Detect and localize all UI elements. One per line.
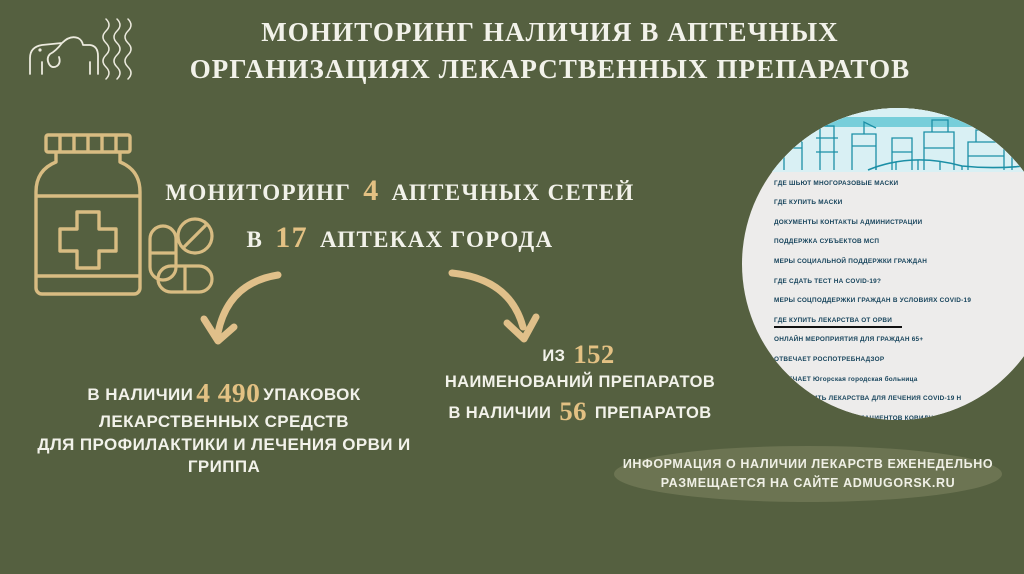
wavy-lines-icon — [100, 17, 134, 83]
menu-item-9[interactable]: ОТВЕЧАЕТ РОСПОТРЕБНАДЗОР — [774, 350, 1024, 370]
city-emblem — [16, 14, 136, 86]
menu-item-5[interactable]: ГДЕ СДАТЬ ТЕСТ НА COVID-19? — [774, 272, 1024, 292]
stat-packages: В НАЛИЧИИ4 490УПАКОВОК ЛЕКАРСТВЕННЫХ СРЕ… — [14, 375, 434, 479]
stat-packages-post: УПАКОВОК — [263, 385, 360, 404]
poster-title: МОНИТОРИНГ НАЛИЧИЯ В АПТЕЧНЫХ ОРГАНИЗАЦИ… — [150, 14, 950, 89]
stat-packages-pre: В НАЛИЧИИ — [87, 385, 193, 404]
footer-line-2: РАЗМЕЩАЕТСЯ НА САЙТЕ ADMUGORSK.RU — [614, 474, 1002, 493]
menu-item-7[interactable]: ГДЕ КУПИТЬ ЛЕКАРСТВА ОТ ОРВИ — [774, 311, 1024, 331]
infographic-poster: МОНИТОРИНГ НАЛИЧИЯ В АПТЕЧНЫХ ОРГАНИЗАЦИ… — [0, 0, 1024, 574]
menu-item-12[interactable]: ПРАВИЛА ПЕРЕДАЧ ДЛЯ ПАЦИЕНТОВ КОВИДНОГ — [774, 409, 1024, 420]
stat-packages-value: 4 490 — [193, 377, 263, 408]
stat-total-names-value: 152 — [570, 339, 617, 369]
curved-arrow-down-left-icon — [204, 275, 278, 341]
headline-l2-pre: В — [247, 227, 264, 252]
title-line-1: МОНИТОРИНГ НАЛИЧИЯ В АПТЕЧНЫХ — [150, 14, 950, 51]
headline-pharmacies-count: 17 — [270, 221, 313, 254]
title-line-2: ОРГАНИЗАЦИЯХ ЛЕКАРСТВЕННЫХ ПРЕПАРАТОВ — [150, 51, 950, 88]
stat-packages-line-2: ЛЕКАРСТВЕННЫХ СРЕДСТВ — [14, 411, 434, 433]
website-screenshot-circle: ГДЕ ШЬЮТ МНОГОРАЗОВЫЕ МАСКИГДЕ КУПИТЬ МА… — [742, 108, 1024, 420]
stat-drug-names-line-2: НАИМЕНОВАНИЙ ПРЕПАРАТОВ — [430, 372, 730, 394]
stat-drug-names-line-1: ИЗ 152 — [430, 337, 730, 372]
menu-item-2[interactable]: ДОКУМЕНТЫ КОНТАКТЫ АДМИНИСТРАЦИИ — [774, 213, 1024, 233]
stat-available-pre: В НАЛИЧИИ — [448, 404, 551, 422]
headline-l1-post: АПТЕЧНЫХ СЕТЕЙ — [392, 180, 635, 205]
site-header-banner — [772, 108, 1024, 172]
footer-line-1: ИНФОРМАЦИЯ О НАЛИЧИИ ЛЕКАРСТВ ЕЖЕНЕДЕЛЬН… — [614, 455, 1002, 474]
menu-item-6[interactable]: МЕРЫ СОЦПОДДЕРЖКИ ГРАЖДАН В УСЛОВИЯХ COV… — [774, 292, 1024, 312]
menu-item-8[interactable]: ОНЛАЙН МЕРОПРИЯТИЯ ДЛЯ ГРАЖДАН 65+ — [774, 331, 1024, 351]
menu-item-1[interactable]: ГДЕ КУПИТЬ МАСКИ — [774, 194, 1024, 214]
site-menu-list: ГДЕ ШЬЮТ МНОГОРАЗОВЫЕ МАСКИГДЕ КУПИТЬ МА… — [772, 174, 1024, 420]
stat-available-post: ПРЕПАРАТОВ — [595, 404, 712, 422]
menu-item-4[interactable]: МЕРЫ СОЦИАЛЬНОЙ ПОДДЕРЖКИ ГРАЖДАН — [774, 252, 1024, 272]
monitoring-headline: МОНИТОРИНГ 4 АПТЕЧНЫХ СЕТЕЙ В 17 АПТЕКАХ… — [150, 168, 650, 261]
headline-l2-post: АПТЕКАХ ГОРОДА — [320, 227, 554, 252]
menu-item-10[interactable]: ОТВЕЧАЕТ Югорская городская больница — [774, 370, 1024, 390]
stat-drug-names-line-3: В НАЛИЧИИ 56 ПРЕПАРАТОВ — [430, 394, 730, 429]
headline-l1-pre: МОНИТОРИНГ — [165, 180, 351, 205]
stat-packages-line-4: ГРИППА — [14, 456, 434, 478]
menu-item-0[interactable]: ГДЕ ШЬЮТ МНОГОРАЗОВЫЕ МАСКИ — [774, 174, 1024, 194]
stat-drug-names: ИЗ 152 НАИМЕНОВАНИЙ ПРЕПАРАТОВ В НАЛИЧИИ… — [430, 337, 730, 429]
headline-line-1: МОНИТОРИНГ 4 АПТЕЧНЫХ СЕТЕЙ — [150, 168, 650, 215]
footer-note: ИНФОРМАЦИЯ О НАЛИЧИИ ЛЕКАРСТВ ЕЖЕНЕДЕЛЬН… — [614, 455, 1002, 493]
headline-line-2: В 17 АПТЕКАХ ГОРОДА — [150, 215, 650, 262]
city-industry-illustration — [772, 108, 1024, 172]
headline-pharmacy-chains-count: 4 — [358, 174, 384, 207]
stat-drug-names-pre: ИЗ — [542, 347, 565, 365]
stat-packages-line-1: В НАЛИЧИИ4 490УПАКОВОК — [14, 375, 434, 411]
pill-bottle-icon — [36, 135, 140, 294]
stat-packages-line-3: ДЛЯ ПРОФИЛАКТИКИ И ЛЕЧЕНИЯ ОРВИ И — [14, 434, 434, 456]
curved-arrow-down-right-icon — [452, 273, 536, 339]
menu-item-3[interactable]: ПОДДЕРЖКА СУБЪЕКТОВ МСП — [774, 233, 1024, 253]
stat-available-value: 56 — [556, 396, 590, 426]
menu-item-11[interactable]: КАК ПОЛУЧИТЬ ЛЕКАРСТВА ДЛЯ ЛЕЧЕНИЯ COVID… — [774, 390, 1024, 410]
